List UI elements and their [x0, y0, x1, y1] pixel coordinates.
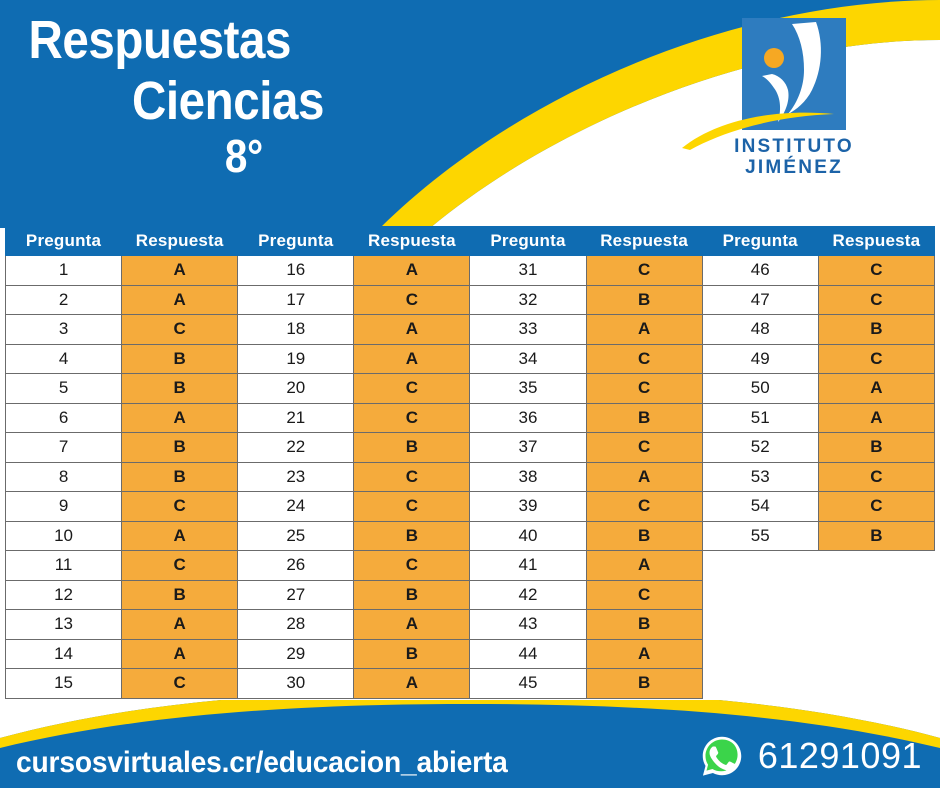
question-number-cell: 12: [6, 580, 122, 610]
answer-cell: A: [122, 521, 238, 551]
question-number-cell: 30: [238, 669, 354, 699]
answer-cell: C: [818, 344, 934, 374]
question-number-cell: 10: [6, 521, 122, 551]
answer-cell: C: [354, 374, 470, 404]
question-number-cell: 1: [6, 256, 122, 286]
question-number-cell: 2: [6, 285, 122, 315]
empty-cell: [818, 639, 934, 669]
table-row: 6A21C36B51A: [6, 403, 935, 433]
answer-cell: C: [354, 492, 470, 522]
answer-cell: A: [354, 344, 470, 374]
answer-cell: C: [122, 551, 238, 581]
question-number-cell: 35: [470, 374, 586, 404]
answer-cell: B: [818, 315, 934, 345]
answer-cell: C: [354, 462, 470, 492]
question-number-cell: 20: [238, 374, 354, 404]
question-number-cell: 40: [470, 521, 586, 551]
column-header-0: Pregunta: [6, 227, 122, 256]
question-number-cell: 22: [238, 433, 354, 463]
question-number-cell: 38: [470, 462, 586, 492]
question-number-cell: 29: [238, 639, 354, 669]
title-line-2: Ciencias: [43, 73, 413, 130]
answer-cell: C: [354, 403, 470, 433]
table-body: 1A16A31C46C2A17C32B47C3C18A33A48B4B19A34…: [6, 256, 935, 699]
answer-key-poster: Respuestas Ciencias 8° INSTITUTO JIMÉNEZ: [0, 0, 940, 788]
question-number-cell: 36: [470, 403, 586, 433]
answer-cell: A: [122, 610, 238, 640]
table-row: 5B20C35C50A: [6, 374, 935, 404]
answer-cell: B: [122, 433, 238, 463]
question-number-cell: 49: [702, 344, 818, 374]
table-row: 9C24C39C54C: [6, 492, 935, 522]
question-number-cell: 51: [702, 403, 818, 433]
question-number-cell: 16: [238, 256, 354, 286]
table-row: 3C18A33A48B: [6, 315, 935, 345]
empty-cell: [702, 551, 818, 581]
answer-cell: A: [586, 462, 702, 492]
answer-cell: B: [586, 403, 702, 433]
question-number-cell: 28: [238, 610, 354, 640]
question-number-cell: 26: [238, 551, 354, 581]
question-number-cell: 39: [470, 492, 586, 522]
answer-cell: B: [122, 462, 238, 492]
answer-cell: B: [354, 639, 470, 669]
footer-banner: cursosvirtuales.cr/educacion_abierta 612…: [0, 700, 940, 788]
question-number-cell: 25: [238, 521, 354, 551]
logo-swoosh-icon: [678, 106, 838, 150]
table-row: 15C30A45B: [6, 669, 935, 699]
answer-cell: A: [586, 315, 702, 345]
question-number-cell: 23: [238, 462, 354, 492]
question-number-cell: 33: [470, 315, 586, 345]
answer-cell: B: [586, 521, 702, 551]
question-number-cell: 44: [470, 639, 586, 669]
answer-cell: A: [354, 669, 470, 699]
empty-cell: [818, 551, 934, 581]
answer-cell: A: [586, 551, 702, 581]
question-number-cell: 43: [470, 610, 586, 640]
answer-cell: C: [586, 433, 702, 463]
table-row: 10A25B40B55B: [6, 521, 935, 551]
answer-cell: B: [586, 669, 702, 699]
answer-cell: C: [818, 492, 934, 522]
answer-cell: C: [586, 374, 702, 404]
question-number-cell: 18: [238, 315, 354, 345]
answer-cell: C: [354, 285, 470, 315]
answer-cell: A: [122, 639, 238, 669]
empty-cell: [702, 610, 818, 640]
empty-cell: [818, 610, 934, 640]
answer-cell: C: [122, 492, 238, 522]
question-number-cell: 32: [470, 285, 586, 315]
answer-cell: C: [818, 256, 934, 286]
answer-cell: C: [818, 462, 934, 492]
table-row: 2A17C32B47C: [6, 285, 935, 315]
answer-cell: C: [122, 315, 238, 345]
question-number-cell: 3: [6, 315, 122, 345]
column-header-4: Pregunta: [470, 227, 586, 256]
question-number-cell: 34: [470, 344, 586, 374]
question-number-cell: 37: [470, 433, 586, 463]
question-number-cell: 6: [6, 403, 122, 433]
answer-cell: A: [818, 403, 934, 433]
answer-cell: A: [818, 374, 934, 404]
header-banner: Respuestas Ciencias 8° INSTITUTO JIMÉNEZ: [0, 0, 940, 228]
table-row: 8B23C38A53C: [6, 462, 935, 492]
question-number-cell: 14: [6, 639, 122, 669]
whatsapp-icon[interactable]: [700, 734, 744, 778]
answer-cell: B: [122, 580, 238, 610]
answer-cell: A: [586, 639, 702, 669]
question-number-cell: 17: [238, 285, 354, 315]
question-number-cell: 53: [702, 462, 818, 492]
column-header-2: Pregunta: [238, 227, 354, 256]
empty-cell: [702, 580, 818, 610]
table-row: 4B19A34C49C: [6, 344, 935, 374]
question-number-cell: 13: [6, 610, 122, 640]
answer-cell: A: [354, 256, 470, 286]
empty-cell: [702, 669, 818, 699]
answer-cell: B: [586, 285, 702, 315]
answer-cell: A: [122, 403, 238, 433]
empty-cell: [818, 580, 934, 610]
answer-cell: B: [122, 344, 238, 374]
question-number-cell: 48: [702, 315, 818, 345]
question-number-cell: 50: [702, 374, 818, 404]
answer-cell: B: [354, 433, 470, 463]
column-header-3: Respuesta: [354, 227, 470, 256]
logo-name-line-2: JIMÉNEZ: [706, 157, 882, 178]
question-number-cell: 5: [6, 374, 122, 404]
answer-cell: A: [122, 285, 238, 315]
question-number-cell: 11: [6, 551, 122, 581]
table-header-row: PreguntaRespuestaPreguntaRespuestaPregun…: [6, 227, 935, 256]
answer-cell: A: [122, 256, 238, 286]
question-number-cell: 4: [6, 344, 122, 374]
question-number-cell: 21: [238, 403, 354, 433]
question-number-cell: 15: [6, 669, 122, 699]
table-row: 7B22B37C52B: [6, 433, 935, 463]
question-number-cell: 47: [702, 285, 818, 315]
answer-cell: B: [354, 580, 470, 610]
table-row: 11C26C41A: [6, 551, 935, 581]
whatsapp-contact[interactable]: 61291091: [700, 734, 922, 778]
question-number-cell: 27: [238, 580, 354, 610]
answer-cell: B: [818, 521, 934, 551]
phone-number[interactable]: 61291091: [758, 735, 922, 777]
empty-cell: [818, 669, 934, 699]
title-line-3: 8°: [43, 132, 413, 181]
website-url[interactable]: cursosvirtuales.cr/educacion_abierta: [16, 746, 508, 780]
answer-cell: C: [586, 492, 702, 522]
question-number-cell: 31: [470, 256, 586, 286]
table-row: 1A16A31C46C: [6, 256, 935, 286]
table-row: 13A28A43B: [6, 610, 935, 640]
question-number-cell: 52: [702, 433, 818, 463]
answer-cell: C: [354, 551, 470, 581]
answer-cell: B: [354, 521, 470, 551]
answers-table: PreguntaRespuestaPreguntaRespuestaPregun…: [5, 226, 935, 699]
empty-cell: [702, 639, 818, 669]
question-number-cell: 41: [470, 551, 586, 581]
instituto-jimenez-logo: INSTITUTO JIMÉNEZ: [706, 18, 882, 186]
column-header-5: Respuesta: [586, 227, 702, 256]
question-number-cell: 42: [470, 580, 586, 610]
column-header-1: Respuesta: [122, 227, 238, 256]
answer-cell: A: [354, 315, 470, 345]
question-number-cell: 24: [238, 492, 354, 522]
poster-title: Respuestas Ciencias 8°: [18, 12, 438, 181]
answer-cell: C: [818, 285, 934, 315]
table-row: 14A29B44A: [6, 639, 935, 669]
question-number-cell: 9: [6, 492, 122, 522]
answer-cell: B: [586, 610, 702, 640]
answer-cell: C: [586, 256, 702, 286]
answer-cell: B: [122, 374, 238, 404]
question-number-cell: 55: [702, 521, 818, 551]
answer-cell: C: [586, 344, 702, 374]
answer-cell: C: [586, 580, 702, 610]
answer-cell: C: [122, 669, 238, 699]
question-number-cell: 19: [238, 344, 354, 374]
question-number-cell: 54: [702, 492, 818, 522]
question-number-cell: 45: [470, 669, 586, 699]
column-header-6: Pregunta: [702, 227, 818, 256]
column-header-7: Respuesta: [818, 227, 934, 256]
title-line-1: Respuestas: [18, 12, 388, 69]
question-number-cell: 46: [702, 256, 818, 286]
question-number-cell: 7: [6, 433, 122, 463]
answer-cell: B: [818, 433, 934, 463]
question-number-cell: 8: [6, 462, 122, 492]
answer-cell: A: [354, 610, 470, 640]
answers-table-container: PreguntaRespuestaPreguntaRespuestaPregun…: [5, 226, 935, 699]
table-row: 12B27B42C: [6, 580, 935, 610]
